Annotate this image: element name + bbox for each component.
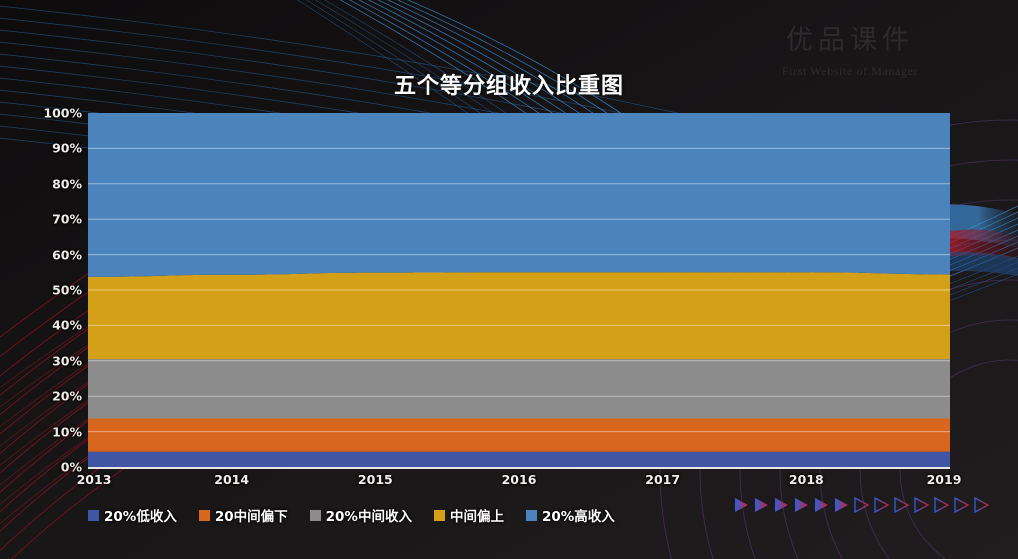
- triangle-outline-icon: [913, 496, 930, 514]
- legend-item[interactable]: 20中间偏下: [199, 505, 288, 525]
- triangle-outline-icon: [973, 496, 990, 514]
- legend-item-label: 20%高收入: [542, 505, 615, 525]
- y-axis: 0%10%20%30%40%50%60%70%80%90%100%: [20, 113, 82, 467]
- y-axis-tick-label: 30%: [26, 353, 82, 368]
- triangle-outline-icon: [933, 496, 950, 514]
- y-axis-tick-label: 90%: [26, 141, 82, 156]
- triangle-filled-icon: [793, 496, 810, 514]
- legend-item-label: 20%低收入: [104, 505, 177, 525]
- legend-item-label: 中间偏上: [450, 505, 504, 525]
- x-axis-tick-label: 2016: [502, 472, 537, 487]
- chart-legend: 20%低收入20中间偏下20%中间收入中间偏上20%高收入: [88, 505, 615, 525]
- triangle-filled-icon: [813, 496, 830, 514]
- triangle-outline-icon: [853, 496, 870, 514]
- x-axis-tick-label: 2019: [927, 472, 962, 487]
- triangle-filled-icon: [733, 496, 750, 514]
- triangle-filled-icon: [833, 496, 850, 514]
- legend-swatch-icon: [88, 510, 99, 521]
- x-axis-tick-label: 2014: [214, 472, 249, 487]
- legend-swatch-icon: [526, 510, 537, 521]
- x-axis-tick-label: 2017: [645, 472, 680, 487]
- area-series-3: [88, 359, 950, 418]
- plot-area: [88, 113, 950, 467]
- legend-item[interactable]: 中间偏上: [434, 505, 504, 525]
- x-axis-tick-label: 2018: [789, 472, 824, 487]
- legend-swatch-icon: [199, 510, 210, 521]
- y-axis-tick-label: 20%: [26, 389, 82, 404]
- y-axis-tick-label: 100%: [26, 106, 82, 121]
- y-axis-tick-label: 50%: [26, 283, 82, 298]
- y-axis-tick-label: 60%: [26, 247, 82, 262]
- area-series-4: [88, 272, 950, 359]
- area-series-5: [88, 113, 950, 277]
- legend-item[interactable]: 20%中间收入: [310, 505, 412, 525]
- triangle-outline-icon: [893, 496, 910, 514]
- triangle-filled-icon: [753, 496, 770, 514]
- y-axis-tick-label: 10%: [26, 424, 82, 439]
- legend-item[interactable]: 20%高收入: [526, 505, 615, 525]
- area-series-2: [88, 419, 950, 452]
- legend-item[interactable]: 20%低收入: [88, 505, 177, 525]
- legend-swatch-icon: [434, 510, 445, 521]
- x-axis: 2013201420152016201720182019: [88, 472, 950, 490]
- x-axis-tick-label: 2013: [77, 472, 112, 487]
- plot-svg: [88, 113, 950, 467]
- legend-swatch-icon: [310, 510, 321, 521]
- x-axis-baseline: [88, 467, 950, 469]
- chart-title: 五个等分组收入比重图: [0, 68, 1018, 100]
- triangle-outline-icon: [953, 496, 970, 514]
- triangle-filled-icon: [773, 496, 790, 514]
- y-axis-tick-label: 40%: [26, 318, 82, 333]
- x-axis-tick-label: 2015: [358, 472, 393, 487]
- legend-item-label: 20中间偏下: [215, 505, 288, 525]
- y-axis-tick-label: 0%: [26, 460, 82, 475]
- area-series-1: [88, 452, 950, 467]
- triangle-outline-icon: [873, 496, 890, 514]
- y-axis-tick-label: 70%: [26, 212, 82, 227]
- legend-item-label: 20%中间收入: [326, 505, 412, 525]
- progress-triangles: [733, 496, 990, 514]
- y-axis-tick-label: 80%: [26, 176, 82, 191]
